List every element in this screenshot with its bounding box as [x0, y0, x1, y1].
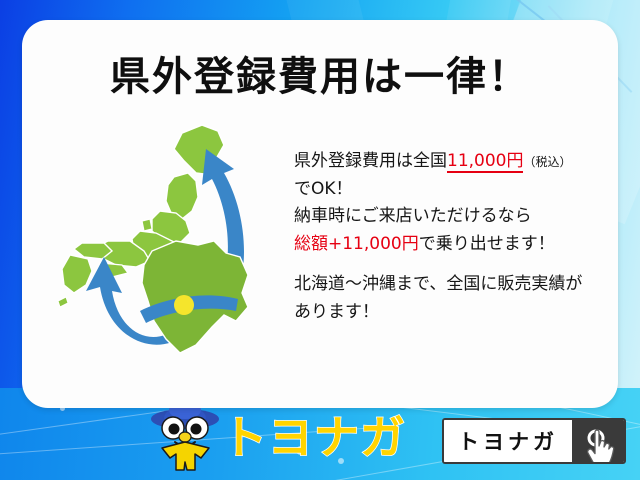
content-card: 県外登録費用は一律！: [22, 20, 618, 408]
brand-logo: トヨナガ: [222, 401, 406, 466]
search-box[interactable]: トヨナガ: [442, 418, 626, 464]
location-marker: [174, 295, 194, 315]
body-line-4: 総額+11,000円で乗り出せます！: [294, 231, 624, 259]
search-input[interactable]: トヨナガ: [444, 420, 572, 462]
body-copy: 県外登録費用は全国11,000円（税込） でOK！ 納車時にご来店いただけるなら…: [294, 148, 624, 326]
total-price-highlight: 総額+11,000円: [294, 234, 419, 254]
body-line-1: 県外登録費用は全国11,000円（税込）: [294, 148, 624, 176]
japan-map-illustration: [56, 115, 286, 400]
tax-note: （税込）: [523, 155, 571, 169]
body-line-5: 北海道～沖縄まで、全国に販売実績が: [294, 271, 624, 299]
body-line-1-part-a: 県外登録費用は全国: [294, 151, 447, 171]
page-title: 県外登録費用は一律！: [22, 44, 618, 102]
body-line-3: 納車時にご来店いただけるなら: [294, 203, 624, 231]
body-line-2: でOK！: [294, 176, 624, 204]
hand-cursor-icon: [584, 428, 618, 464]
text-spacer: [294, 258, 624, 271]
body-line-4-part-b: で乗り出せます！: [419, 234, 555, 254]
japan-map-svg: [56, 115, 286, 400]
body-line-6: あります！: [294, 299, 624, 327]
price-highlight: 11,000円: [447, 151, 523, 173]
poster-root: トヨナガ トヨナガ 県外登録費用は一律！: [0, 0, 640, 480]
